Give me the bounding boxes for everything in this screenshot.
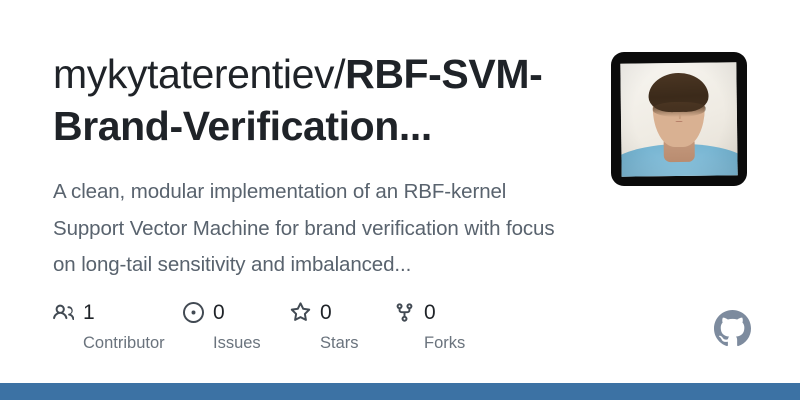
star-icon	[290, 302, 311, 323]
repository-title: mykytaterentiev/RBF-SVM-Brand-Verificati…	[53, 48, 573, 152]
stat-stars-value: 0	[320, 302, 332, 323]
github-octocat-icon	[714, 310, 751, 347]
avatar-eye-right	[684, 109, 688, 111]
stat-forks-value: 0	[424, 302, 436, 323]
avatar-mouth	[676, 120, 683, 122]
accent-bar	[0, 383, 800, 400]
stat-issues-value: 0	[213, 302, 225, 323]
repository-social-preview-card: mykytaterentiev/RBF-SVM-Brand-Verificati…	[0, 0, 800, 400]
avatar-brow-left	[669, 105, 675, 107]
stat-contributors-label: Contributor	[53, 335, 165, 352]
repository-stats: 1 Contributor 0 Issues	[53, 298, 484, 352]
avatar-neck	[664, 132, 696, 162]
stat-issues[interactable]: 0 Issues	[183, 298, 290, 352]
repository-name-separator: /	[334, 51, 345, 97]
repository-description: A clean, modular implementation of an RB…	[53, 174, 568, 283]
people-icon	[53, 302, 74, 323]
stat-forks-label: Forks	[394, 335, 465, 352]
stat-contributors[interactable]: 1 Contributor	[53, 298, 183, 352]
stat-stars[interactable]: 0 Stars	[290, 298, 394, 352]
stat-forks-top: 0	[394, 298, 436, 326]
avatar-photo	[620, 62, 737, 176]
stat-stars-label: Stars	[290, 335, 359, 352]
stat-forks[interactable]: 0 Forks	[394, 298, 484, 352]
stat-contributors-value: 1	[83, 302, 95, 323]
owner-avatar[interactable]	[611, 52, 747, 186]
repository-info: mykytaterentiev/RBF-SVM-Brand-Verificati…	[53, 48, 573, 284]
stat-issues-top: 0	[183, 298, 225, 326]
avatar-shirt	[620, 143, 737, 176]
avatar-eye-left	[670, 109, 674, 111]
avatar-nose	[678, 114, 680, 119]
avatar-face	[652, 78, 705, 146]
fork-icon	[394, 302, 415, 323]
avatar-hair	[648, 72, 709, 111]
issue-opened-icon	[183, 302, 204, 323]
stat-contributors-top: 1	[53, 298, 95, 326]
stat-issues-label: Issues	[183, 335, 261, 352]
repository-owner[interactable]: mykytaterentiev	[53, 51, 334, 97]
stat-stars-top: 0	[290, 298, 332, 326]
avatar-brow-right	[683, 105, 689, 107]
